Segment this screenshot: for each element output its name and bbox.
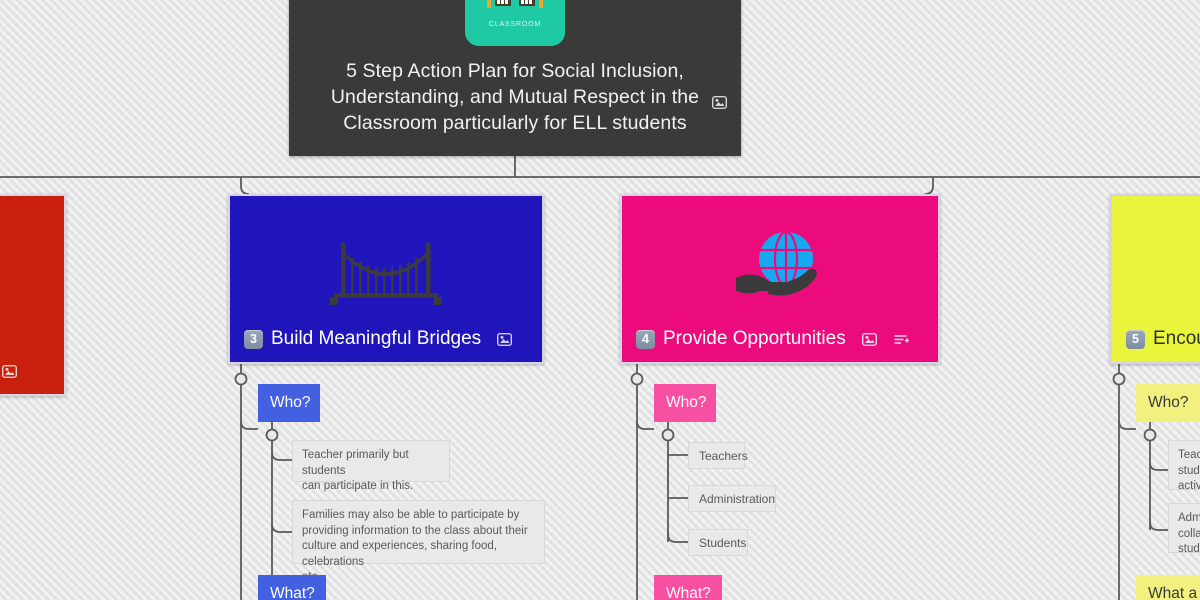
globe-in-hand-icon <box>622 222 938 322</box>
svg-text:CLASSROOM: CLASSROOM <box>489 21 541 28</box>
topic-title-pink: Provide Opportunities <box>663 328 846 350</box>
topic-title-blue: Build Meaningful Bridges <box>271 328 481 350</box>
subtopic-who-yellow[interactable]: Who? <box>1136 384 1200 422</box>
root-node[interactable]: CLASSROOM 5 Step Action Plan for Social … <box>289 0 741 156</box>
topic-node-build-meaningful-bridges[interactable]: 3 Build Meaningful Bridges <box>228 194 544 364</box>
collapse-handle-blue <box>236 374 247 385</box>
leaf-note[interactable]: Families may also be able to participate… <box>292 500 545 564</box>
leaf-note[interactable]: Teac stud activ <box>1168 440 1200 490</box>
topic-caption-red: ate <box>0 360 54 382</box>
notes-icon[interactable] <box>894 333 909 346</box>
topic-title-yellow: Encou <box>1153 328 1200 350</box>
subtopic-what-pink[interactable]: What? <box>654 575 722 600</box>
classroom-illustration-icon: CLASSROOM <box>465 0 565 46</box>
image-icon[interactable] <box>712 96 727 109</box>
suspension-bridge-icon <box>230 222 542 322</box>
topic-node-yellow[interactable]: 5 Encou <box>1110 194 1200 364</box>
collapse-handle-yellow <box>1114 374 1125 385</box>
root-image: CLASSROOM <box>465 0 565 46</box>
leaf-note[interactable]: Teacher primarily but students can parti… <box>292 440 450 482</box>
leaf-note[interactable]: Administration <box>688 485 776 512</box>
leaf-note[interactable]: Teachers <box>688 442 745 469</box>
topic-caption-yellow: 5 Encou <box>1126 328 1200 350</box>
topic-node-provide-opportunities[interactable]: 4 Provide Opportunities <box>620 194 940 364</box>
topic-caption-blue: 3 Build Meaningful Bridges <box>244 328 532 350</box>
subtopic-what-yellow[interactable]: What a <box>1136 575 1200 600</box>
leaf-note[interactable]: Adm colla stud <box>1168 503 1200 553</box>
subtopic-what-blue[interactable]: What? <box>258 575 326 600</box>
topic-badge-3: 3 <box>244 330 263 349</box>
topic-caption-pink: 4 Provide Opportunities <box>636 328 928 350</box>
collapse-handle-pink-who <box>663 430 674 441</box>
subtopic-who-pink[interactable]: Who? <box>654 384 716 422</box>
collapse-handle-yellow-who <box>1145 430 1156 441</box>
image-icon[interactable] <box>862 333 877 346</box>
image-icon[interactable] <box>2 365 17 378</box>
collapse-handle-blue-who <box>267 430 278 441</box>
root-title: 5 Step Action Plan for Social Inclusion,… <box>307 58 723 136</box>
image-icon[interactable] <box>497 333 512 346</box>
subtopic-who-blue[interactable]: Who? <box>258 384 320 422</box>
leaf-note[interactable]: Students <box>688 529 748 556</box>
topic-node-red[interactable]: ate <box>0 194 66 396</box>
mind-map-canvas[interactable]: CLASSROOM 5 Step Action Plan for Social … <box>0 0 1200 600</box>
collapse-handle-pink <box>632 374 643 385</box>
topic-badge-4: 4 <box>636 330 655 349</box>
topic-badge-5: 5 <box>1126 330 1145 349</box>
